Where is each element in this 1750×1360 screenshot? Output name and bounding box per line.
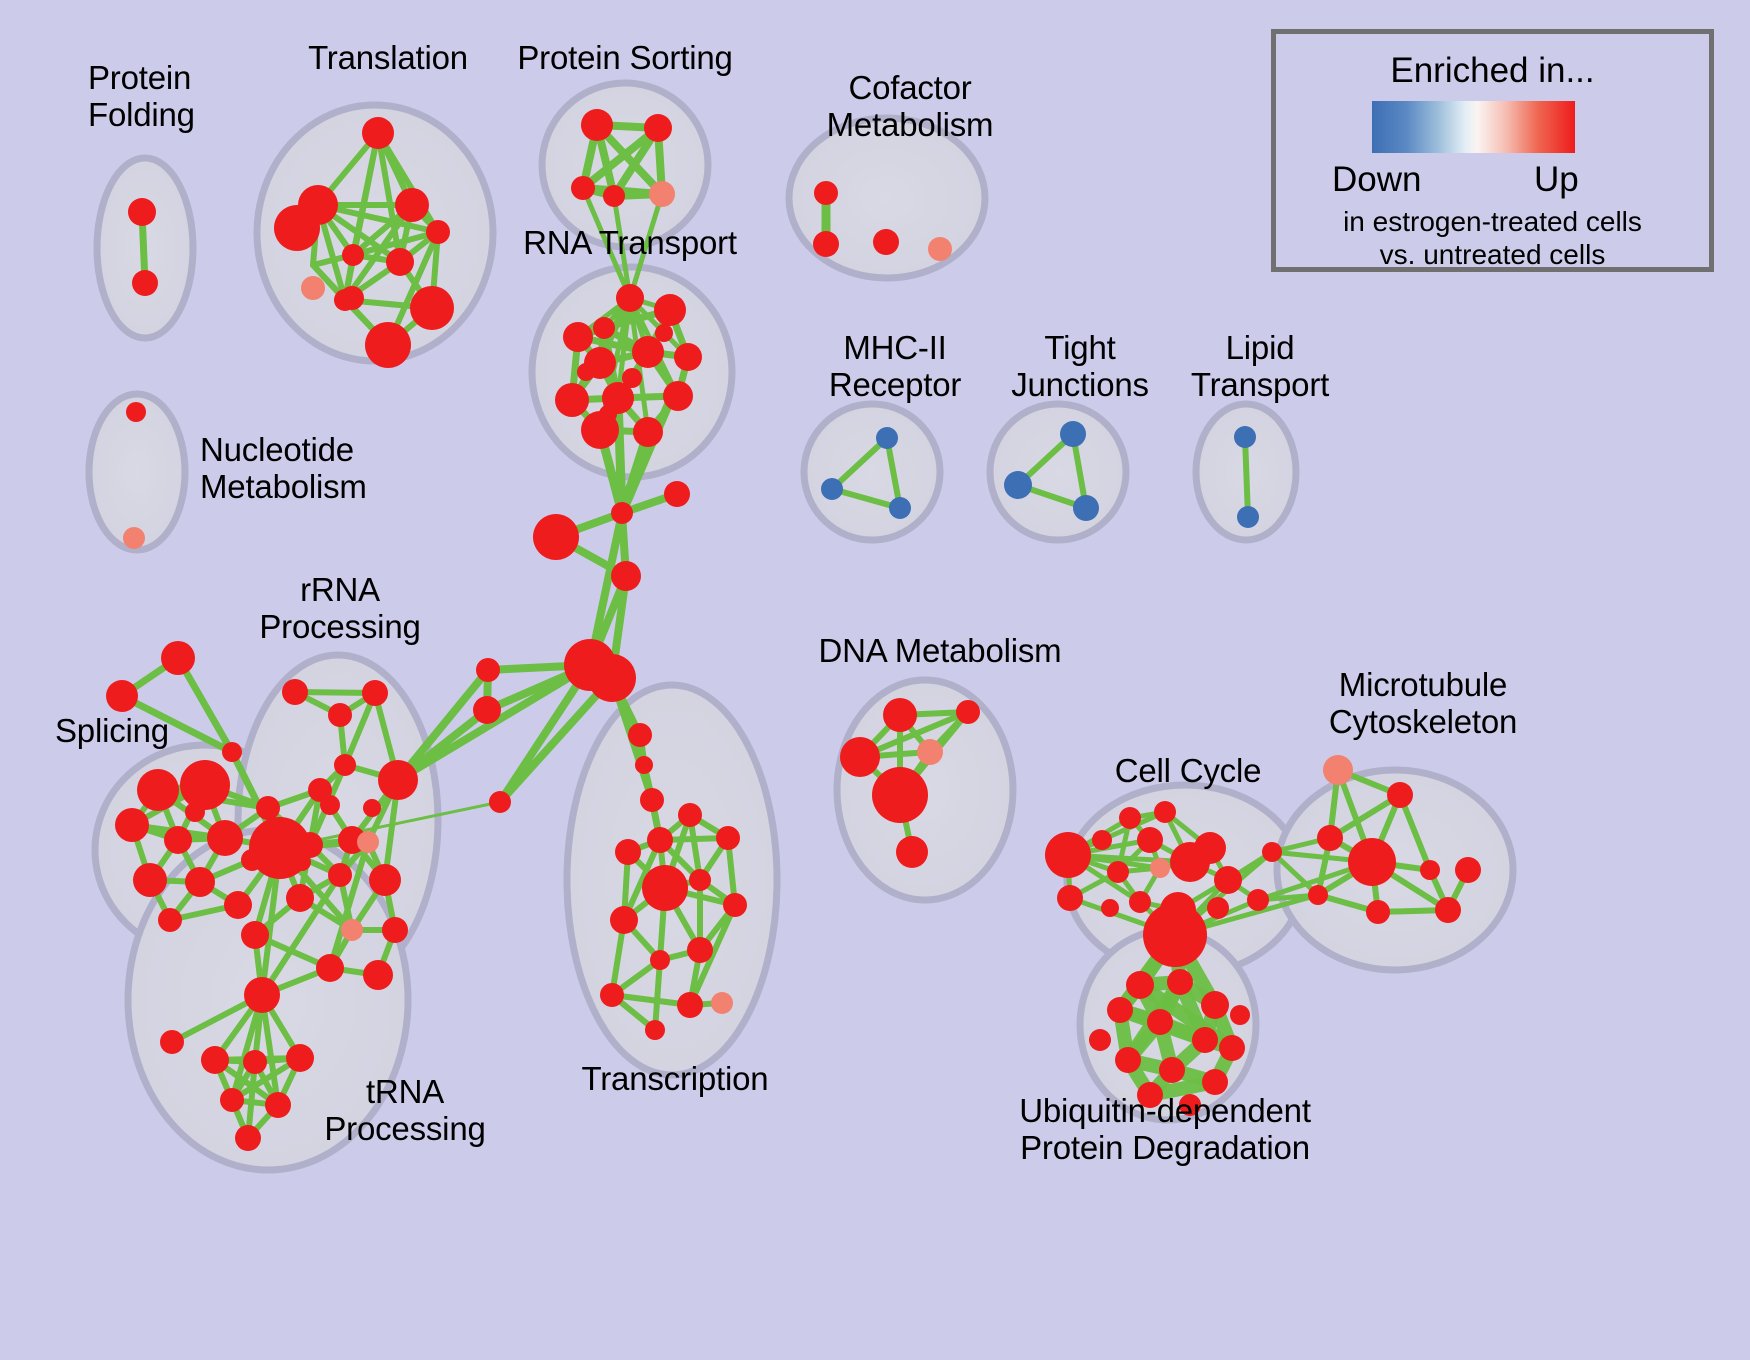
node xyxy=(180,760,230,810)
node xyxy=(382,917,408,943)
node xyxy=(563,322,593,352)
node xyxy=(821,478,843,500)
cluster-label-ubiquitin-protein-degradation: Ubiquitin-dependent Protein Degradation xyxy=(985,1093,1345,1167)
node xyxy=(160,1030,184,1054)
legend-box: Enriched in... Down Up in estrogen-treat… xyxy=(1271,29,1714,272)
node xyxy=(649,181,675,207)
node xyxy=(207,820,243,856)
node xyxy=(1230,1005,1250,1025)
node xyxy=(363,960,393,990)
node xyxy=(647,827,673,853)
node xyxy=(1455,857,1481,883)
cluster-label-microtubule-cytoskeleton: Microtubule Cytoskeleton xyxy=(1288,667,1558,741)
node xyxy=(1101,899,1119,917)
node xyxy=(286,1044,314,1072)
node xyxy=(1237,506,1259,528)
node xyxy=(185,867,215,897)
node xyxy=(677,992,703,1018)
node xyxy=(395,188,429,222)
cluster-label-cofactor-metabolism: Cofactor Metabolism xyxy=(800,70,1020,144)
node xyxy=(610,906,638,934)
node xyxy=(301,276,325,300)
cluster-label-transcription: Transcription xyxy=(565,1061,785,1098)
node xyxy=(571,176,595,200)
node xyxy=(1366,900,1390,924)
node xyxy=(1308,885,1328,905)
node xyxy=(1323,755,1353,785)
node xyxy=(615,839,641,865)
node xyxy=(640,788,664,812)
node xyxy=(635,756,653,774)
node xyxy=(689,869,711,891)
node xyxy=(555,383,589,417)
node xyxy=(588,654,636,702)
legend-color-gradient-bar xyxy=(1372,101,1575,153)
node xyxy=(593,317,615,339)
node xyxy=(644,114,672,142)
node xyxy=(678,803,702,827)
node xyxy=(1150,858,1170,878)
node xyxy=(1348,838,1396,886)
node xyxy=(1247,889,1269,911)
node xyxy=(1435,897,1461,923)
node xyxy=(334,289,356,311)
cluster-label-cell-cycle: Cell Cycle xyxy=(1098,753,1278,790)
node xyxy=(1154,801,1176,823)
node xyxy=(1119,807,1141,829)
node xyxy=(633,417,663,447)
node xyxy=(1192,1027,1218,1053)
node xyxy=(655,324,673,342)
cluster-label-mhc-ii-receptor: MHC-II Receptor xyxy=(800,330,990,404)
node xyxy=(1234,426,1256,448)
node xyxy=(274,205,320,251)
node xyxy=(363,799,381,817)
node xyxy=(600,983,624,1007)
node xyxy=(1317,825,1343,851)
node xyxy=(164,826,192,854)
node xyxy=(265,1092,291,1118)
node xyxy=(476,658,500,682)
node xyxy=(357,831,379,853)
node xyxy=(201,1046,229,1074)
node xyxy=(599,405,617,423)
node xyxy=(1137,827,1163,853)
node xyxy=(1004,471,1032,499)
node xyxy=(1207,897,1229,919)
node xyxy=(663,381,693,411)
node xyxy=(241,849,263,871)
node xyxy=(185,802,205,822)
node xyxy=(872,767,928,823)
node xyxy=(577,363,595,381)
node xyxy=(889,497,911,519)
node xyxy=(123,527,145,549)
node xyxy=(674,343,702,371)
node xyxy=(873,229,899,255)
cluster-label-rna-transport: RNA Transport xyxy=(510,225,750,262)
node xyxy=(137,769,179,811)
node xyxy=(334,754,356,776)
node xyxy=(1057,885,1083,911)
node xyxy=(628,723,652,747)
node xyxy=(243,1050,267,1074)
node xyxy=(369,864,401,896)
node xyxy=(603,185,625,207)
node xyxy=(840,737,880,777)
node xyxy=(1129,891,1151,913)
node xyxy=(917,739,943,765)
node xyxy=(642,865,688,911)
node xyxy=(115,808,149,842)
node xyxy=(876,427,898,449)
node xyxy=(654,294,686,326)
node xyxy=(378,760,418,800)
node xyxy=(256,796,280,820)
node xyxy=(1143,903,1207,967)
node xyxy=(883,698,917,732)
cluster-label-protein-sorting: Protein Sorting xyxy=(500,40,750,77)
node xyxy=(645,1020,665,1040)
node xyxy=(1147,1009,1173,1035)
node xyxy=(1262,842,1282,862)
node xyxy=(1201,991,1229,1019)
node xyxy=(220,1088,244,1112)
node xyxy=(533,514,579,560)
node xyxy=(1092,830,1112,850)
cluster-label-splicing: Splicing xyxy=(55,713,225,750)
node xyxy=(611,561,641,591)
node xyxy=(1107,997,1133,1023)
node xyxy=(1126,971,1154,999)
node xyxy=(341,919,363,941)
node xyxy=(814,181,838,205)
node xyxy=(293,853,311,871)
node xyxy=(1045,832,1091,878)
node xyxy=(956,700,980,724)
node xyxy=(1060,421,1086,447)
node xyxy=(282,679,308,705)
node xyxy=(813,231,839,257)
node xyxy=(106,680,138,712)
node xyxy=(622,368,642,388)
node xyxy=(1159,1057,1185,1083)
node xyxy=(132,270,158,296)
legend-title: Enriched in... xyxy=(1276,51,1709,91)
node xyxy=(611,502,633,524)
node xyxy=(222,742,242,762)
node xyxy=(161,641,195,675)
node xyxy=(928,237,952,261)
node xyxy=(1219,1035,1245,1061)
node xyxy=(328,703,352,727)
legend-subtitle-line-1: in estrogen-treated cells xyxy=(1276,206,1709,238)
node xyxy=(1167,969,1193,995)
node xyxy=(342,244,364,266)
node xyxy=(1073,495,1099,521)
cluster-label-dna-metabolism: DNA Metabolism xyxy=(810,633,1070,670)
hull-protein-sorting xyxy=(542,83,708,247)
node xyxy=(664,481,690,507)
node xyxy=(723,893,747,917)
node xyxy=(244,977,280,1013)
node xyxy=(133,863,167,897)
node xyxy=(581,109,613,141)
node xyxy=(1107,861,1129,883)
node xyxy=(362,680,388,706)
node xyxy=(410,286,454,330)
node xyxy=(362,117,394,149)
node xyxy=(1115,1047,1141,1073)
network-figure: Protein Folding Translation Protein Sort… xyxy=(0,0,1750,1360)
node xyxy=(716,826,740,850)
node xyxy=(235,1125,261,1151)
node xyxy=(1214,866,1242,894)
cluster-label-protein-folding: Protein Folding xyxy=(88,60,278,134)
cluster-label-nucleotide-metabolism: Nucleotide Metabolism xyxy=(200,432,430,506)
node xyxy=(386,248,414,276)
cluster-label-trna-processing: tRNA Processing xyxy=(305,1074,505,1148)
node xyxy=(1387,782,1413,808)
node xyxy=(128,198,156,226)
node xyxy=(158,908,182,932)
node xyxy=(1420,860,1440,880)
node xyxy=(316,954,344,982)
node xyxy=(687,937,713,963)
node xyxy=(320,795,340,815)
cluster-label-translation: Translation xyxy=(288,40,488,77)
node xyxy=(650,950,670,970)
node xyxy=(1194,832,1226,864)
hull-tight-junctions xyxy=(990,404,1126,540)
legend-up-label: Up xyxy=(1534,160,1579,200)
node xyxy=(896,836,928,868)
node xyxy=(328,863,352,887)
legend-down-label: Down xyxy=(1332,160,1421,200)
cluster-label-lipid-transport: Lipid Transport xyxy=(1165,330,1355,404)
node xyxy=(224,891,252,919)
node xyxy=(286,884,314,912)
node xyxy=(616,284,644,312)
node xyxy=(426,220,450,244)
node xyxy=(489,791,511,813)
node xyxy=(126,402,146,422)
node xyxy=(241,921,269,949)
cluster-label-rrna-processing: rRNA Processing xyxy=(240,572,440,646)
node xyxy=(473,696,501,724)
node xyxy=(632,336,664,368)
legend-subtitle-line-2: vs. untreated cells xyxy=(1276,239,1709,271)
node xyxy=(1089,1029,1111,1051)
node xyxy=(711,992,733,1014)
node xyxy=(365,322,411,368)
hull-mhc xyxy=(804,404,940,540)
cluster-label-tight-junctions: Tight Junctions xyxy=(985,330,1175,404)
